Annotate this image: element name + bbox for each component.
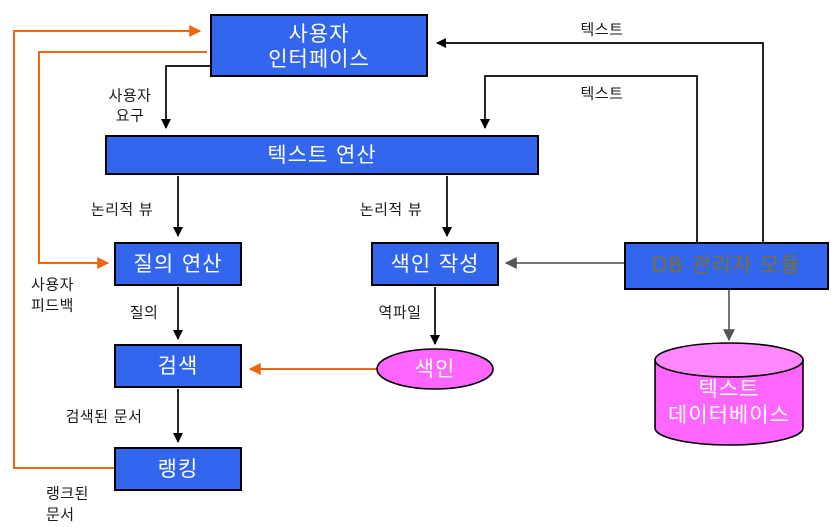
edge-label-retrieved-docs: 검색된 문서 <box>66 408 143 426</box>
user-interface-label-line1: 사용자 <box>289 22 350 46</box>
text-database-label-line1: 텍스트 <box>699 377 760 401</box>
edge-label-inverted-file: 역파일 <box>379 304 422 322</box>
node-user-interface[interactable]: 사용자 인터페이스 <box>211 15 427 76</box>
search-label: 검색 <box>158 354 199 378</box>
edge-label-text-second: 텍스트 <box>581 85 624 103</box>
node-ranking[interactable]: 랭킹 <box>115 448 241 490</box>
edge-label-text-top: 텍스트 <box>581 21 624 39</box>
index-build-label: 색인 작성 <box>391 252 480 276</box>
text-operation-label: 텍스트 연산 <box>267 143 376 167</box>
node-index-build[interactable]: 색인 작성 <box>372 243 498 285</box>
node-text-operation[interactable]: 텍스트 연산 <box>106 136 538 174</box>
node-index[interactable]: 색인 <box>377 349 493 389</box>
edge-label-user-feedback-line2: 피드백 <box>31 297 74 315</box>
node-text-database[interactable]: 텍스트 데이터베이스 <box>655 343 803 445</box>
edge-label-user-request-line2: 요구 <box>116 107 145 125</box>
edge-label-user-feedback-line1: 사용자 <box>31 276 74 294</box>
ranking-label: 랭킹 <box>158 457 199 481</box>
user-interface-label-line2: 인터페이스 <box>268 47 370 71</box>
edge-label-query: 질의 <box>130 304 159 322</box>
edge-label-user-request-line1: 사용자 <box>109 87 152 105</box>
node-db-manager-module[interactable]: DB 관리자 모듈 <box>625 243 828 289</box>
edge-label-logical-view-left: 논리적 뷰 <box>91 201 153 219</box>
db-manager-module-label: DB 관리자 모듈 <box>651 253 801 277</box>
node-search[interactable]: 검색 <box>115 345 241 387</box>
index-label: 색인 <box>415 357 456 381</box>
system-architecture-diagram: 사용자 인터페이스 텍스트 연산 질의 연산 색인 작성 DB 관리자 모듈 검… <box>0 0 831 527</box>
diagram-canvas-root: 사용자 인터페이스 텍스트 연산 질의 연산 색인 작성 DB 관리자 모듈 검… <box>0 0 831 527</box>
node-query-operation[interactable]: 질의 연산 <box>115 243 241 285</box>
edge-label-logical-view-right: 논리적 뷰 <box>360 201 422 219</box>
edge-label-ranked-docs-line2: 문서 <box>46 506 75 524</box>
text-database-cylinder-top <box>655 343 803 377</box>
connector-user-interface-to-text-operation <box>166 66 211 128</box>
edge-label-ranked-docs-line1: 랭크된 <box>46 485 89 503</box>
text-database-label-line2: 데이터베이스 <box>668 403 790 427</box>
query-operation-label: 질의 연산 <box>134 252 223 276</box>
